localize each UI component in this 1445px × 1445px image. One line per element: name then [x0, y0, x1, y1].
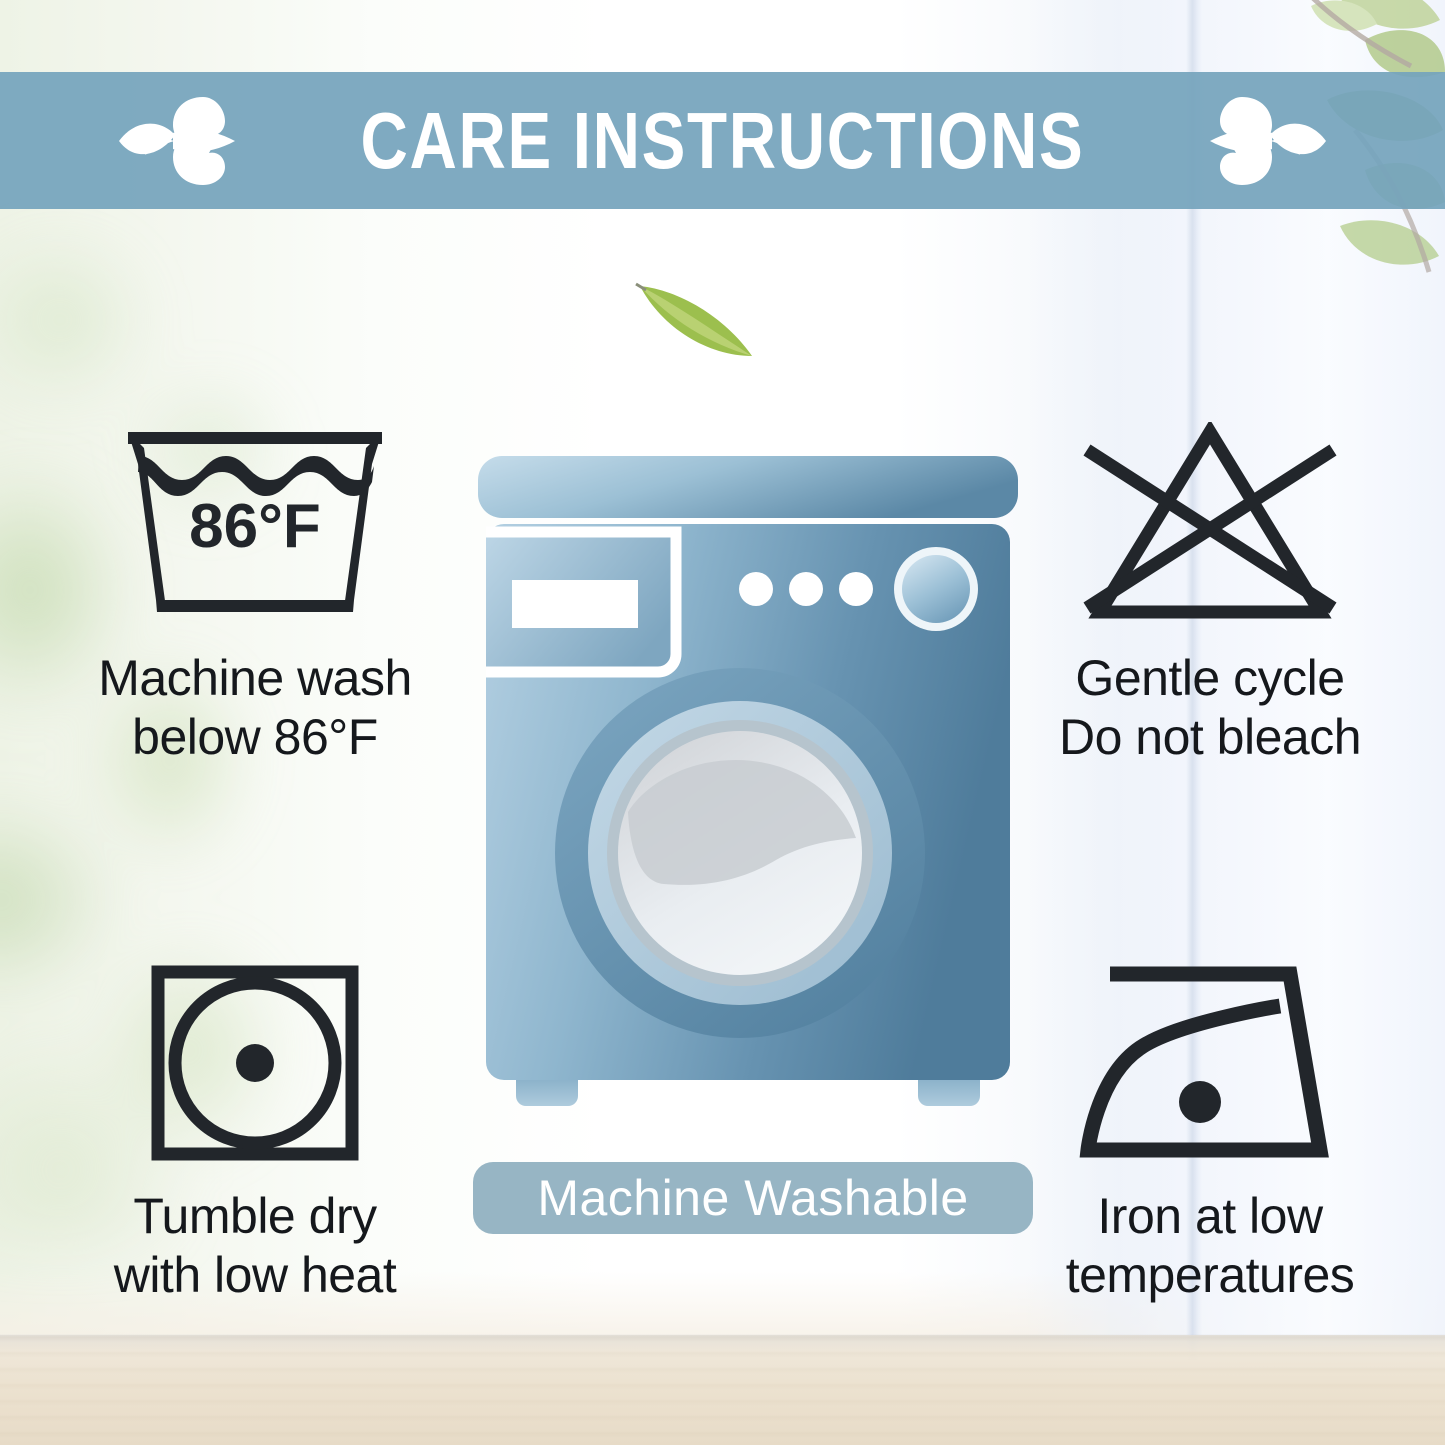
symbol-caption: Iron at low temperatures	[1066, 1187, 1355, 1305]
symbol-caption: Tumble dry with low heat	[114, 1187, 397, 1305]
iron-one-dot-icon	[1070, 960, 1350, 1165]
detergent-drawer	[486, 532, 676, 672]
care-instructions-infographic: CARE INSTRUCTIONS 86°F Machine wash belo…	[0, 0, 1445, 1445]
symbol-cell-machine-wash: 86°F Machine wash below 86°F	[30, 422, 480, 767]
wood-grain-texture	[0, 1335, 1445, 1445]
wash-tub-icon: 86°F	[110, 422, 400, 627]
triangle-crossed-out-icon	[1065, 422, 1355, 627]
washer-lid	[478, 456, 1018, 518]
badge-label: Machine Washable	[537, 1173, 968, 1223]
drawer-slot	[512, 580, 638, 628]
fleur-de-lis-icon	[1208, 89, 1328, 193]
symbol-cell-tumble-dry: Tumble dry with low heat	[30, 960, 480, 1305]
fleur-de-lis-icon	[117, 89, 237, 193]
wash-temperature-label: 86°F	[189, 492, 321, 561]
washer-door	[555, 668, 925, 1038]
control-dot	[739, 572, 773, 606]
tumble-dry-low-icon	[144, 960, 366, 1165]
page-title: CARE INSTRUCTIONS	[361, 101, 1085, 181]
symbol-cell-iron-low: Iron at low temperatures	[985, 960, 1435, 1305]
floating-leaf-icon	[632, 272, 762, 368]
control-knob	[894, 547, 978, 631]
symbol-cell-do-not-bleach: Gentle cycle Do not bleach	[985, 422, 1435, 767]
washing-machine-illustration	[468, 440, 1028, 1130]
header-banner: CARE INSTRUCTIONS	[0, 72, 1445, 209]
control-dot	[839, 572, 873, 606]
control-dot	[789, 572, 823, 606]
symbol-caption: Machine wash below 86°F	[98, 649, 412, 767]
symbol-caption: Gentle cycle Do not bleach	[1059, 649, 1361, 767]
machine-washable-badge: Machine Washable	[473, 1162, 1033, 1234]
